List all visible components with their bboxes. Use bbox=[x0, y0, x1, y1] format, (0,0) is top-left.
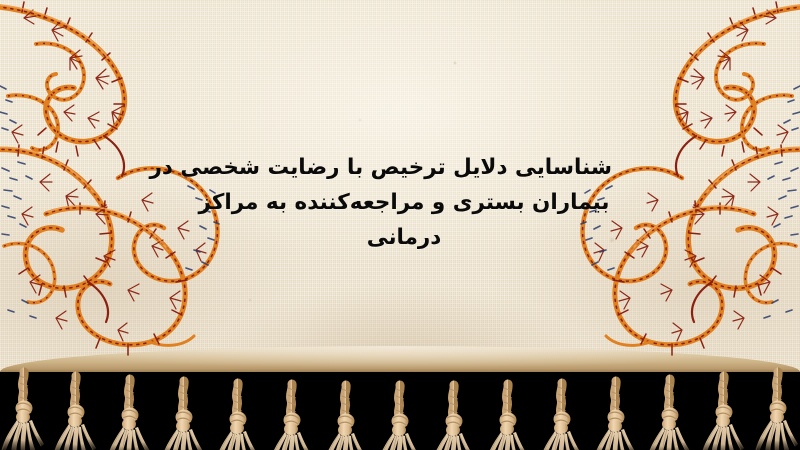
title-line-1: شناسایی دلایل ترخیص با رضایت شخصی در bbox=[196, 150, 612, 185]
title-slide: شناسایی دلایل ترخیص با رضایت شخصی در بیم… bbox=[0, 0, 800, 450]
slide-title: شناسایی دلایل ترخیص با رضایت شخصی در بیم… bbox=[196, 150, 612, 255]
title-line-2: بیماران بستری و مراجعه‌کننده به مراکز bbox=[196, 185, 612, 220]
title-line-3: درمانی bbox=[196, 220, 612, 255]
fabric-hem bbox=[0, 346, 800, 372]
